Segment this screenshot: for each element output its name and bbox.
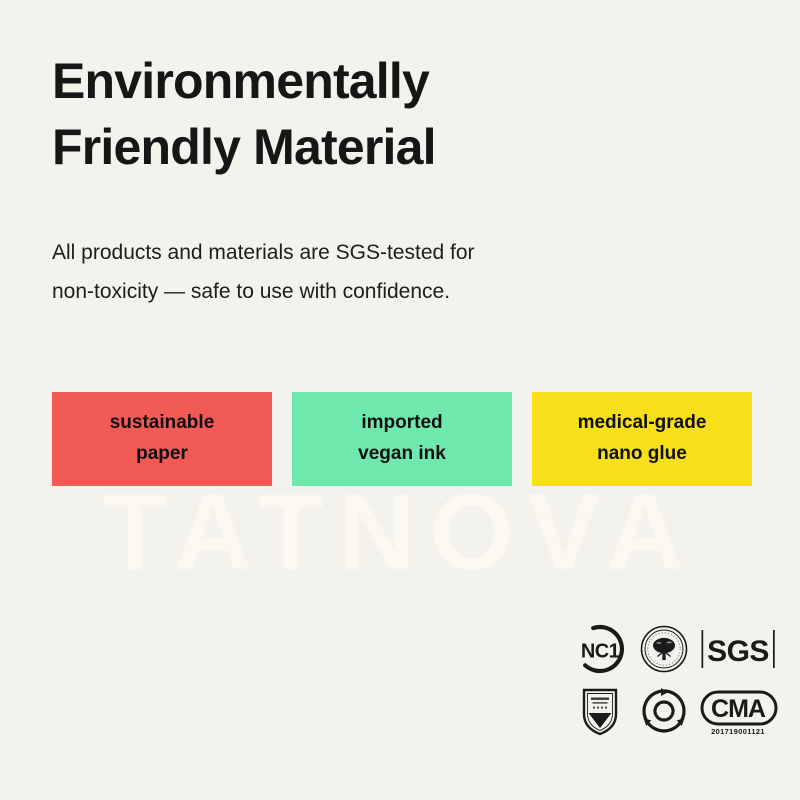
- cma-certification-code: 201719001121: [711, 727, 765, 736]
- sgs-certification-icon: SGS: [698, 622, 778, 676]
- certification-badge-row-2: CMA 201719001121: [570, 682, 782, 740]
- page-subtitle-line-2: non-toxicity — safe to use with confiden…: [52, 273, 652, 312]
- material-tag-label-line-2: nano glue: [597, 439, 687, 470]
- page-title: Environmentally Friendly Material: [52, 48, 692, 180]
- material-tag-label-line-1: sustainable: [110, 408, 215, 439]
- material-tag-imported-vegan-ink: imported vegan ink: [292, 392, 512, 486]
- brand-watermark: TATNOVA: [0, 478, 800, 586]
- material-tag-row: sustainable paper imported vegan ink med…: [52, 392, 752, 486]
- material-tag-sustainable-paper: sustainable paper: [52, 392, 272, 486]
- fsc-forest-seal-icon: [630, 622, 698, 676]
- material-tag-label-line-2: paper: [136, 439, 188, 470]
- page-title-line-2: Friendly Material: [52, 114, 692, 180]
- page-subtitle-line-1: All products and materials are SGS-teste…: [52, 234, 652, 273]
- page-title-line-1: Environmentally: [52, 48, 692, 114]
- shield-certification-icon: [570, 682, 630, 740]
- material-tag-label-line-1: imported: [361, 408, 442, 439]
- page-subtitle: All products and materials are SGS-teste…: [52, 234, 652, 312]
- nc1-certification-icon: NC1: [570, 622, 630, 676]
- certification-badge-row-1: NC1: [570, 620, 782, 678]
- material-tag-label-line-2: vegan ink: [358, 439, 446, 470]
- svg-text:NC1: NC1: [581, 641, 620, 663]
- promo-panel: TATNOVA Environmentally Friendly Materia…: [0, 0, 800, 800]
- material-tag-medical-grade-nano-glue: medical-grade nano glue: [532, 392, 752, 486]
- svg-text:CMA: CMA: [711, 695, 766, 723]
- certification-badge-group: NC1: [570, 620, 782, 740]
- recycling-symbol-icon: [630, 682, 698, 740]
- svg-text:SGS: SGS: [707, 635, 769, 668]
- material-tag-label-line-1: medical-grade: [578, 408, 707, 439]
- cma-certification-icon: CMA 201719001121: [698, 682, 778, 740]
